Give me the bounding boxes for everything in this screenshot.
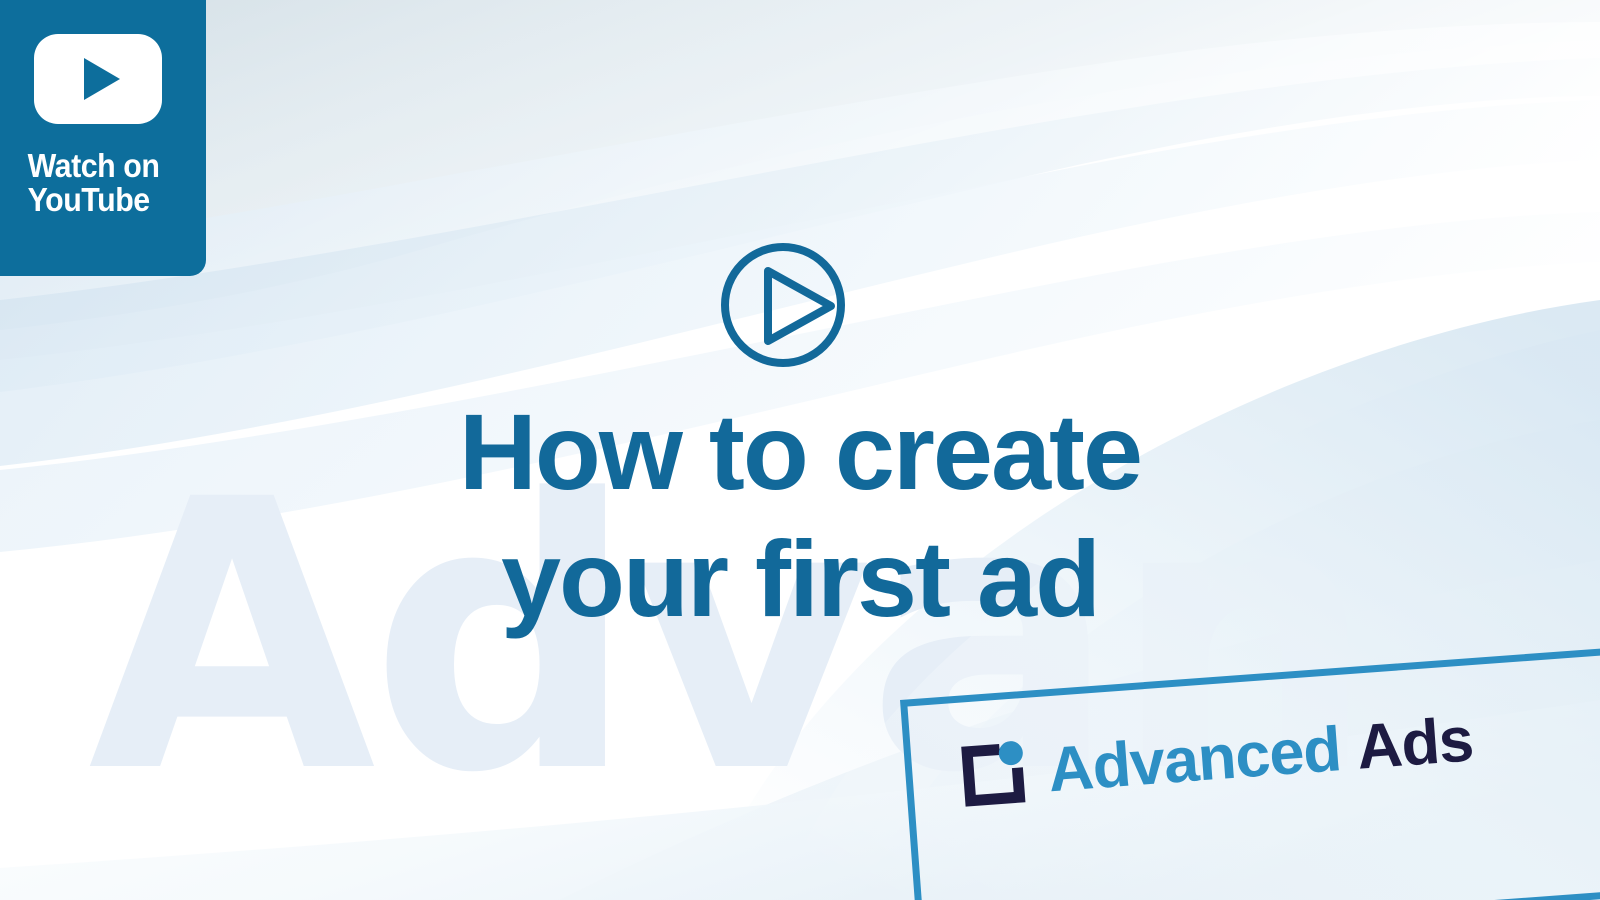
play-circle-outline-icon[interactable] [718, 240, 848, 370]
youtube-play-icon [34, 34, 162, 124]
badge-label-line2: YouTube [28, 183, 190, 217]
headline-line-2: your first ad [0, 515, 1600, 642]
headline-line-1: How to create [0, 388, 1600, 515]
advanced-ads-bracket-icon [958, 739, 1029, 810]
watch-on-youtube-label: Watch on YouTube [0, 149, 190, 216]
page-title: How to create your first ad [0, 388, 1600, 643]
video-thumbnail: Advan Watch on YouTube [0, 0, 1600, 900]
badge-label-line1: Watch on [28, 147, 160, 184]
logo-word-ads: Ads [1354, 704, 1475, 782]
watch-on-youtube-badge[interactable]: Watch on YouTube [0, 0, 206, 276]
